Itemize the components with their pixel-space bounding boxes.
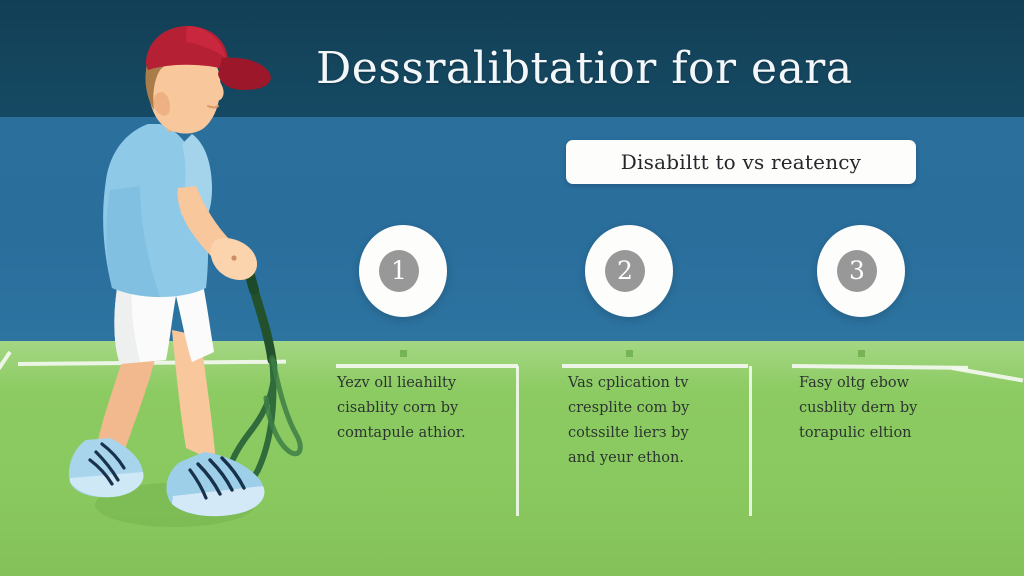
step-badge-1: 1 bbox=[379, 250, 419, 292]
step-description-line: and yeur ethon. bbox=[568, 446, 744, 471]
step-description-line: Vas cplication tv bbox=[568, 371, 744, 396]
step-circle-1[interactable]: 1 bbox=[359, 225, 447, 317]
step-description-3: Fasy oltg ebowcusblity dern bytorapulic … bbox=[799, 371, 975, 446]
page-title: Dessralibtatior for eara bbox=[316, 41, 976, 97]
subtitle-pill-text: Disabiltt to vs reatency bbox=[621, 150, 861, 174]
step-description-line: torapulic eltion bbox=[799, 421, 975, 446]
step-circle-2[interactable]: 2 bbox=[585, 225, 673, 317]
step-description-2: Vas cplication tvcresplite com bycotssil… bbox=[568, 371, 744, 471]
back-shoe bbox=[69, 438, 144, 497]
step-circle-3[interactable]: 3 bbox=[817, 225, 905, 317]
step-description-line: cotssilte lierз by bbox=[568, 421, 744, 446]
step-description-line: Fasy oltg ebow bbox=[799, 371, 975, 396]
infographic-canvas: Dessralibtatior for eara Disabiltt to vs… bbox=[0, 0, 1024, 576]
step-badge-3: 3 bbox=[837, 250, 877, 292]
front-shoe bbox=[166, 452, 264, 516]
step-badge-2: 2 bbox=[605, 250, 645, 292]
step-description-line: cisablity corn by bbox=[337, 396, 513, 421]
knuckle bbox=[231, 255, 236, 260]
step-description-1: Yezv oll lieahiltycisablity corn bycomta… bbox=[337, 371, 513, 446]
step-description-line: comtapule athior. bbox=[337, 421, 513, 446]
subtitle-pill: Disabiltt to vs reatency bbox=[566, 140, 916, 184]
step-description-line: cresplite com by bbox=[568, 396, 744, 421]
cap-brim bbox=[218, 58, 271, 90]
step-description-line: Yezv oll lieahilty bbox=[337, 371, 513, 396]
step-description-line: cusblity dern by bbox=[799, 396, 975, 421]
